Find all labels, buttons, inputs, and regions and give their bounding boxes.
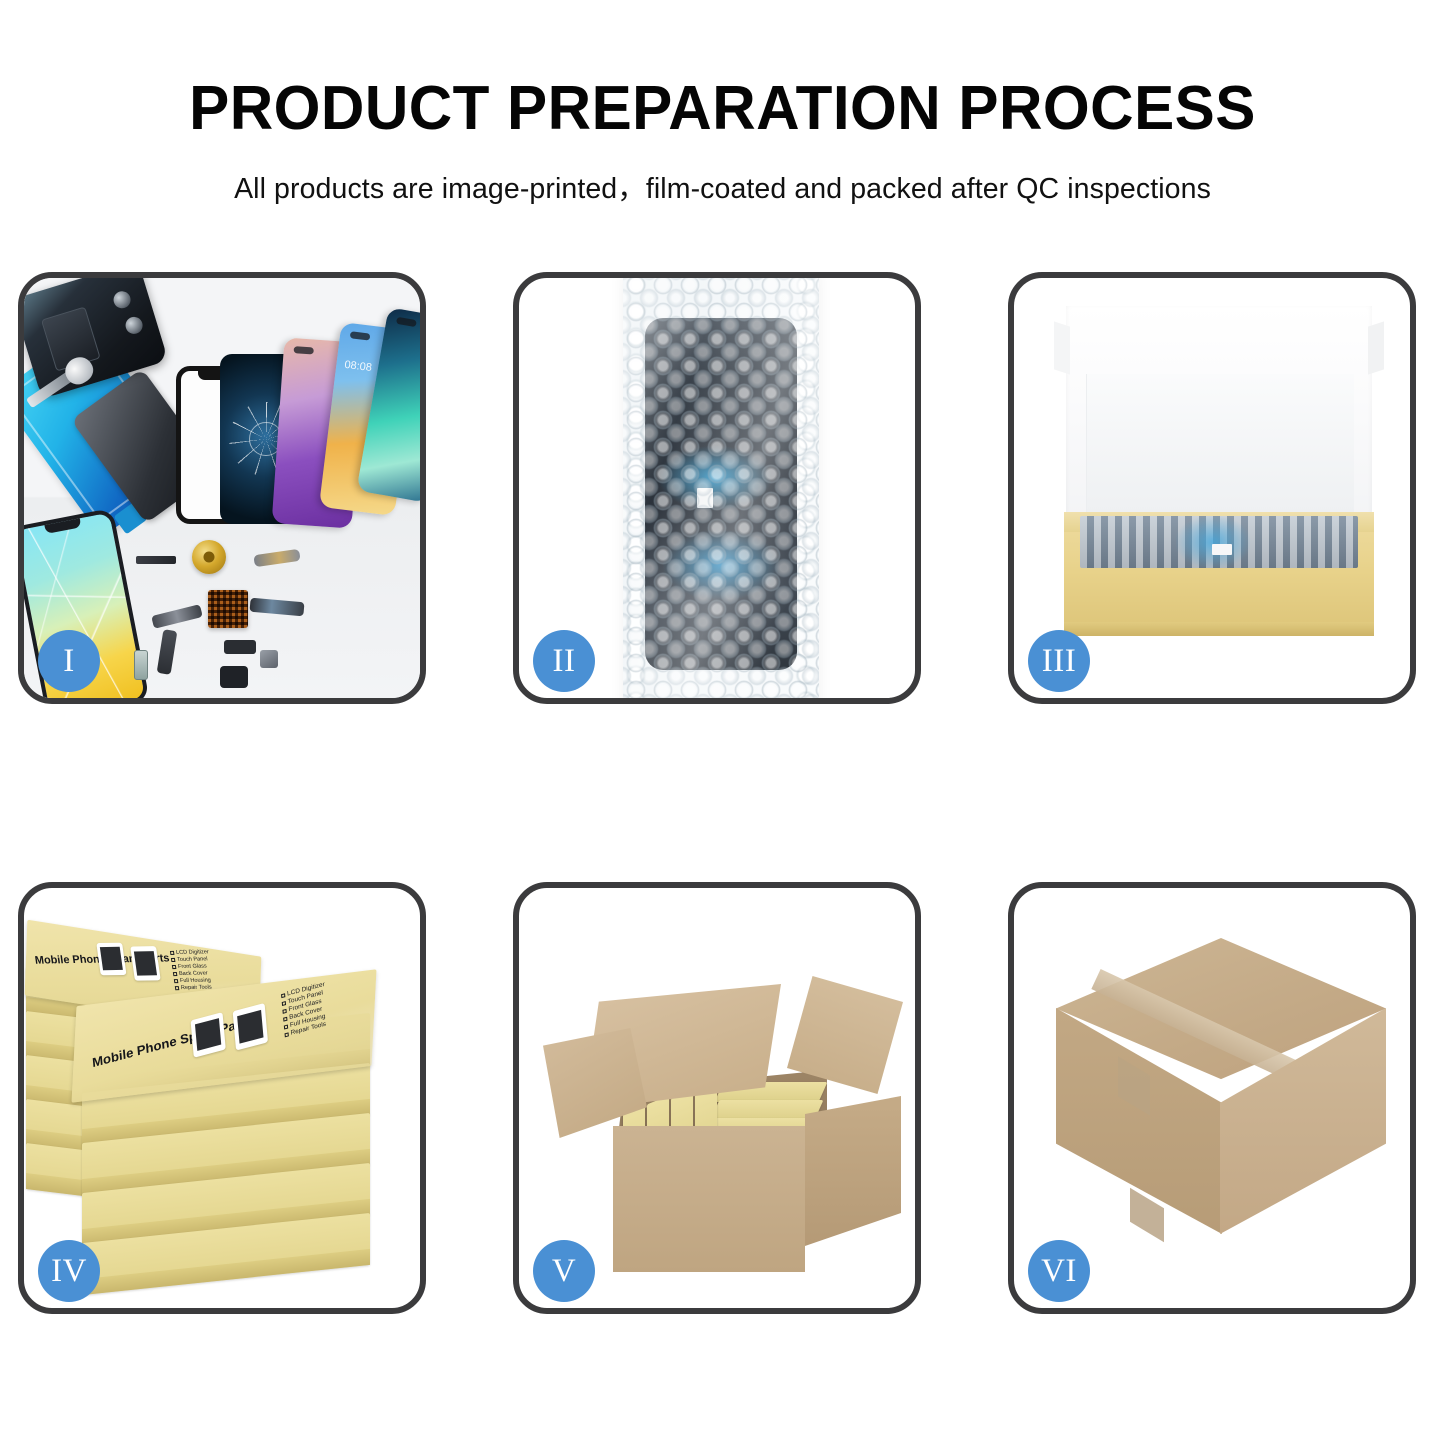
checklist-label: Touch Panel (177, 956, 208, 963)
checklist-item: Back Cover (173, 970, 212, 977)
product-label-icon (1212, 544, 1232, 555)
sim-tray-icon (134, 650, 148, 680)
step-panel-2[interactable]: II (513, 272, 921, 704)
screen-glow-icon (663, 530, 779, 600)
box-brand-label: Mobile Phone Spare Parts (92, 1014, 253, 1071)
checkbox-icon (282, 1001, 286, 1006)
box-lid-inner-icon (1086, 374, 1354, 516)
checkbox-icon (172, 965, 177, 969)
box-checklist: LCD Digitizer Touch Panel Front Glass Ba… (170, 949, 214, 991)
checklist-label: Back Cover (179, 970, 208, 977)
vibrator-motor-icon (220, 666, 248, 688)
checkbox-icon (284, 1032, 288, 1037)
checklist-item: Front Glass (172, 963, 211, 970)
checkbox-icon (170, 951, 175, 955)
checklist-item: Touch Panel (171, 956, 210, 963)
phone-clock-label: 08:08 (344, 359, 373, 374)
ic-chip-icon (208, 590, 248, 628)
connector-icon (224, 640, 256, 654)
infographic-page: PRODUCT PREPARATION PROCESS All products… (0, 0, 1445, 1445)
box-phone-graphic-icon (130, 946, 160, 981)
box-phone-graphic-icon (96, 943, 126, 976)
screen-glow-icon (659, 446, 771, 510)
checkbox-icon (282, 1008, 286, 1013)
checklist-label: LCD Digitizer (176, 949, 209, 956)
checkbox-icon (283, 1016, 287, 1021)
camera-cutout-icon (294, 346, 314, 354)
step-panel-3[interactable]: III (1008, 272, 1416, 704)
camera-module-icon (260, 650, 278, 668)
sealed-carton (1034, 916, 1406, 1286)
box-phone-graphic-icon (233, 1003, 268, 1051)
camera-lens-icon (111, 289, 132, 310)
checkbox-icon (173, 972, 178, 976)
checkbox-icon (284, 1024, 288, 1029)
box-phone-graphic-icon (191, 1012, 226, 1058)
box-checklist: LCD Digitizer Touch Panel Front Glass Ba… (281, 981, 329, 1038)
product-label-icon (697, 488, 713, 508)
checklist-label: Full Housing (180, 978, 212, 985)
speaker-module-icon (192, 540, 226, 574)
box-front-lip-icon (1064, 622, 1374, 636)
step-badge-5: V (533, 1240, 595, 1302)
process-step-grid: 08:08 (18, 272, 1428, 1420)
step-badge-1: I (38, 630, 100, 692)
checkbox-icon (174, 979, 179, 983)
checklist-item: LCD Digitizer (170, 949, 209, 956)
checklist-label: Front Glass (178, 963, 207, 970)
carton-front-face-icon (613, 1126, 805, 1272)
wrapped-product-in-box-icon (1080, 516, 1358, 568)
header: PRODUCT PREPARATION PROCESS All products… (0, 0, 1445, 207)
wrapped-screen-icon (645, 318, 797, 670)
checkbox-icon (171, 958, 176, 962)
camera-lens-icon (123, 315, 144, 336)
earpiece-mesh-icon (136, 556, 176, 564)
screen-glow-icon (1176, 516, 1250, 568)
page-title: PRODUCT PREPARATION PROCESS (22, 78, 1424, 140)
open-carton (535, 940, 909, 1280)
step-badge-4: IV (38, 1240, 100, 1302)
step-badge-6: VI (1028, 1240, 1090, 1302)
step-panel-1[interactable]: 08:08 (18, 272, 426, 704)
page-subtitle: All products are image-printed，film-coat… (0, 166, 1445, 207)
carton-side-face-icon (805, 1096, 901, 1246)
step-panel-6[interactable]: VI (1008, 882, 1416, 1314)
step-panel-5[interactable]: V (513, 882, 921, 1314)
box-side-icon (82, 1249, 370, 1295)
checkbox-icon (175, 986, 180, 990)
checklist-item: Full Housing (174, 977, 213, 984)
checkbox-icon (281, 993, 285, 998)
camera-cutout-icon (396, 317, 417, 327)
camera-cutout-icon (350, 331, 371, 340)
step-badge-3: III (1028, 630, 1090, 692)
step-badge-2: II (533, 630, 595, 692)
step-panel-4[interactable]: Mobile Phone Spare Parts LCD Digitizer T… (18, 882, 426, 1314)
